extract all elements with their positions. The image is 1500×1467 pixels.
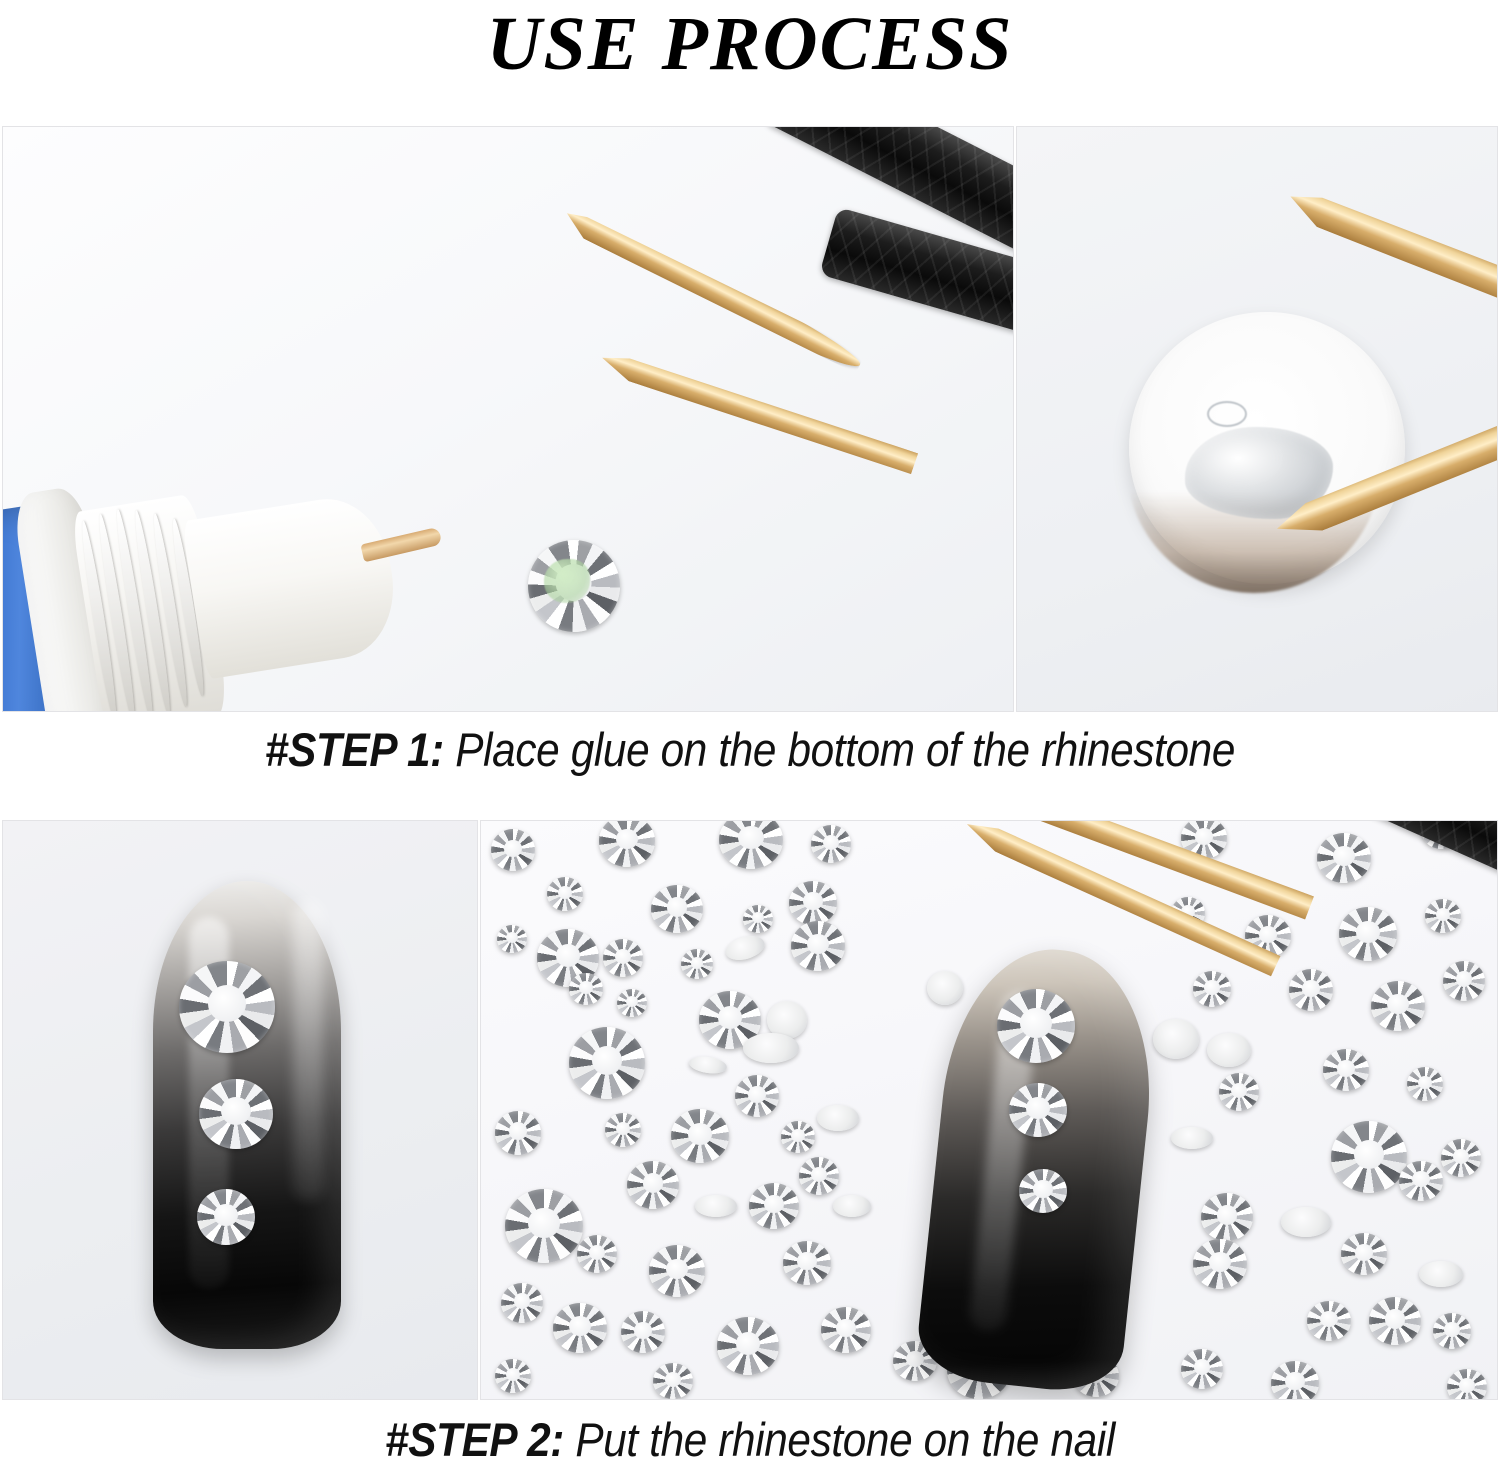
rhinestone-medium xyxy=(199,1079,273,1149)
decorated-nail-photo xyxy=(2,820,478,1400)
step-2-label: #STEP 2: xyxy=(385,1413,564,1466)
glue-bubble xyxy=(1207,401,1247,427)
rhinestone-on-nail xyxy=(997,989,1075,1063)
glue-bottle-taper xyxy=(181,490,404,679)
glue-bottle xyxy=(2,397,516,712)
rhinestone-on-nail xyxy=(1019,1169,1067,1213)
step-2-caption: #STEP 2: Put the rhinestone on the nail xyxy=(75,1412,1425,1467)
glue-bottle-tweezers-photo xyxy=(2,126,1014,712)
step-1-caption: #STEP 1: Place glue on the bottom of the… xyxy=(75,722,1425,777)
nail-highlight xyxy=(293,901,323,1201)
glue-drop xyxy=(544,559,590,603)
scattered-rhinestones-photo xyxy=(480,820,1498,1400)
step-2-text: Put the rhinestone on the nail xyxy=(564,1413,1115,1466)
rhinestone-large xyxy=(179,961,275,1053)
rhinestone-small xyxy=(197,1189,255,1245)
tweezer-arm-upper xyxy=(560,204,866,377)
step-2-panel-row xyxy=(2,820,1498,1400)
rhinestone-on-nail xyxy=(1009,1083,1067,1137)
tweezer-arm-upper xyxy=(1284,182,1498,326)
tweezer-arm-lower xyxy=(598,346,918,478)
step-1-text: Place glue on the bottom of the rhinesto… xyxy=(444,723,1235,776)
step-1-label: #STEP 1: xyxy=(265,723,444,776)
step-1-panel-row xyxy=(2,126,1498,712)
rhinestone-backside-photo xyxy=(1016,126,1498,712)
page-title: USE PROCESS xyxy=(0,0,1500,108)
